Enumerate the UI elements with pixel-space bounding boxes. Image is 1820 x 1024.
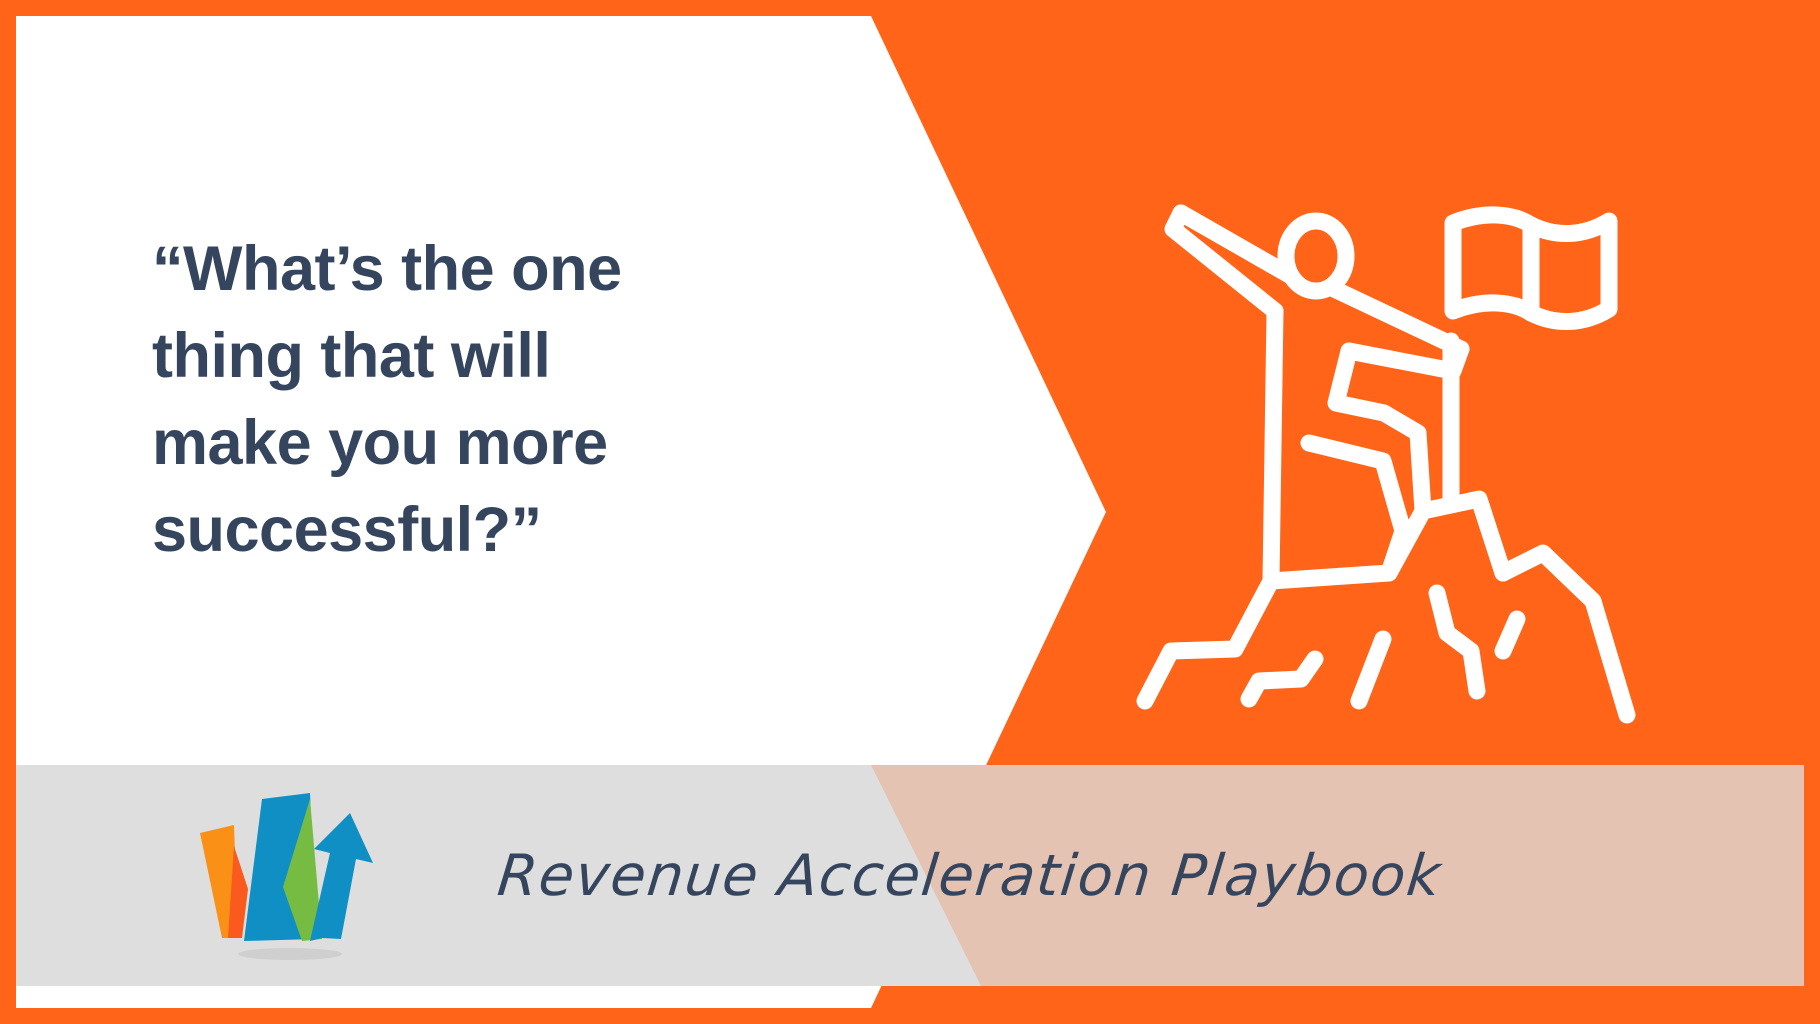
- footer-tagline: Revenue Acceleration Playbook: [492, 816, 1448, 936]
- slide-canvas: “What’s the one thing that will make you…: [0, 0, 1820, 1024]
- headline-line-4: successful?”: [152, 487, 792, 574]
- headline-line-2: thing that will: [152, 313, 792, 400]
- climber-with-flag-on-summit-icon: [1131, 181, 1661, 741]
- headline-quote: “What’s the one thing that will make you…: [152, 226, 792, 574]
- headline-line-1: “What’s the one: [152, 226, 792, 313]
- logo-blue-arrow: [310, 813, 373, 941]
- slide-inner-canvas: “What’s the one thing that will make you…: [16, 16, 1804, 1008]
- brand-logo: [198, 791, 388, 966]
- headline-line-3: make you more: [152, 400, 792, 487]
- logo-shadow: [238, 948, 342, 960]
